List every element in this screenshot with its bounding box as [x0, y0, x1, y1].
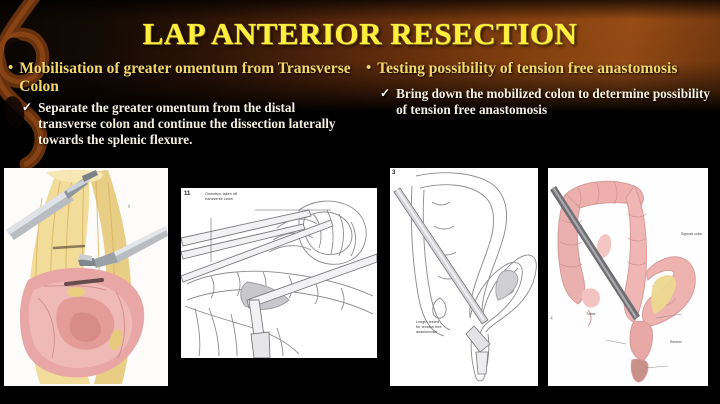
left-heading-text: Mobilisation of greater omentum from Tra…	[19, 60, 356, 96]
check-mark-icon: ✓	[22, 100, 32, 116]
left-content-column: • Mobilisation of greater omentum from T…	[8, 60, 356, 148]
right-heading-bullet: • Testing possibility of tension free an…	[366, 60, 714, 78]
check-mark-icon: ✓	[380, 86, 390, 102]
bullet-dot-icon: •	[8, 60, 13, 77]
figure-omentum-dissection-color: ii	[4, 168, 168, 386]
figure-annotation-omentum: Omentum taken off transverse colon	[205, 192, 237, 202]
figure-number-label: 3	[392, 170, 395, 176]
left-heading-bullet: • Mobilisation of greater omentum from T…	[8, 60, 356, 96]
figure-colon-anatomy-color: 4 Sigmoid colon Tumor Rectum	[548, 168, 708, 386]
figure-annotation-tumor: Tumor	[586, 312, 596, 316]
figure-omentum-taken-off-line-drawing: 11 Omentum taken off transverse colon	[181, 188, 377, 358]
left-detail-bullet: ✓ Separate the greater omentum from the …	[8, 100, 356, 148]
left-detail-text: Separate the greater omentum from the di…	[38, 100, 356, 148]
bullet-dot-icon: •	[366, 60, 371, 77]
right-detail-bullet: ✓ Bring down the mobilized colon to dete…	[366, 86, 714, 118]
svg-text:ii: ii	[128, 204, 130, 210]
figure-annotation-length-tested: Length tested for tension free anastomos…	[416, 320, 442, 335]
svg-text:4: 4	[550, 316, 553, 322]
right-heading-text: Testing possibility of tension free anas…	[377, 60, 677, 78]
presentation-slide: LAP ANTERIOR RESECTION • Mobilisation of…	[0, 0, 720, 404]
page-title: LAP ANTERIOR RESECTION	[0, 16, 720, 52]
right-detail-text: Bring down the mobilized colon to determ…	[396, 86, 714, 118]
figure-length-tested-line-drawing: 3 Length tested for tension free anastom…	[390, 168, 538, 386]
figure-number-label: 11	[184, 191, 190, 197]
figure-annotation-rectum: Rectum	[670, 340, 682, 344]
figure-annotation-sigmoid-colon: Sigmoid colon	[681, 232, 702, 236]
right-content-column: • Testing possibility of tension free an…	[366, 60, 714, 118]
